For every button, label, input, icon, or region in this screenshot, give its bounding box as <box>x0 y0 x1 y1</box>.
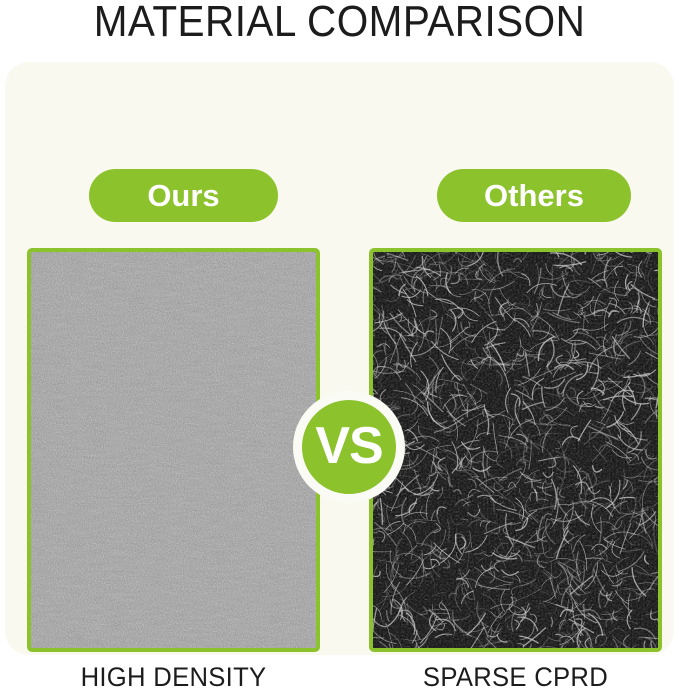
caption-high-density: HIGH DENSITY <box>34 660 312 694</box>
texture-sparse-dark-fiber <box>369 248 662 652</box>
label-pill-others: Others <box>437 169 631 222</box>
vs-badge: VS <box>293 391 405 503</box>
caption-sparse-cprd: SPARSE CPRD <box>376 660 654 694</box>
page-title: MATERIAL COMPARISON <box>27 0 652 46</box>
pill-label-ours: Ours <box>147 180 219 211</box>
label-pill-ours: Ours <box>89 169 278 222</box>
comparison-card: Ours Others <box>5 62 674 655</box>
material-comparison-infographic: MATERIAL COMPARISON Ours Others <box>0 0 679 665</box>
material-panel-high-density <box>27 248 320 652</box>
vs-badge-label: VS <box>315 420 382 472</box>
texture-dense-gray-felt <box>27 248 320 652</box>
material-panel-sparse-cprd <box>369 248 662 652</box>
pill-label-others: Others <box>484 180 584 211</box>
